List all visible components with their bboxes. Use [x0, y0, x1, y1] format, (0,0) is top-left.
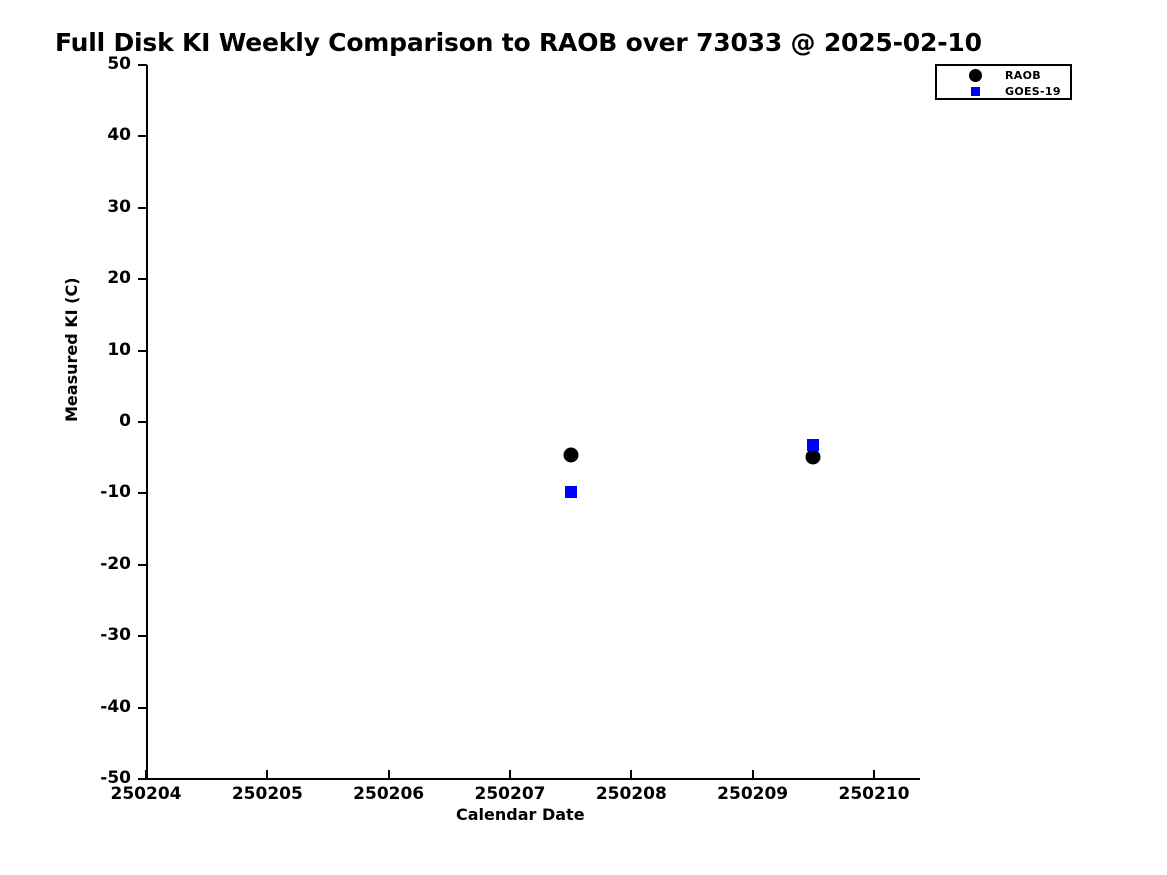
x-axis-label: Calendar Date [456, 805, 585, 824]
x-axis-tick-label: 250210 [839, 784, 910, 804]
x-axis-tick-label: 250207 [475, 784, 546, 804]
data-point-goes-19 [807, 439, 819, 451]
y-axis-tick-label: -40 [0, 697, 131, 717]
y-axis-tick-label: 30 [0, 197, 131, 217]
data-point-raob [563, 447, 578, 462]
y-axis-tick-label: 50 [0, 54, 131, 74]
x-axis-tick-label: 250209 [717, 784, 788, 804]
legend-label: GOES-19 [1005, 85, 1061, 98]
legend: RAOBGOES-19 [935, 64, 1072, 100]
chart-canvas: Full Disk KI Weekly Comparison to RAOB o… [0, 0, 1167, 875]
y-axis-label: Measured KI (C) [62, 277, 81, 422]
legend-item-goes-19: GOES-19 [937, 84, 1070, 100]
x-axis-tick-label: 250208 [596, 784, 667, 804]
legend-item-raob: RAOB [937, 68, 1070, 84]
plot-area [146, 65, 874, 779]
y-axis-tick-label: 40 [0, 125, 131, 145]
legend-label: RAOB [1005, 69, 1041, 82]
legend-marker [969, 69, 982, 82]
data-point-goes-19 [565, 486, 577, 498]
data-point-raob [806, 449, 821, 464]
legend-marker [971, 87, 980, 96]
x-axis-tick-label: 250206 [353, 784, 424, 804]
legend-circle-icon [965, 68, 985, 84]
y-axis-tick-label: -20 [0, 554, 131, 574]
y-axis-tick-label: -10 [0, 482, 131, 502]
chart-title: Full Disk KI Weekly Comparison to RAOB o… [55, 28, 982, 57]
x-axis-tick-label: 250205 [232, 784, 303, 804]
x-axis-tick-label: 250204 [111, 784, 182, 804]
legend-square-icon [965, 84, 985, 100]
y-axis-tick-label: -30 [0, 625, 131, 645]
